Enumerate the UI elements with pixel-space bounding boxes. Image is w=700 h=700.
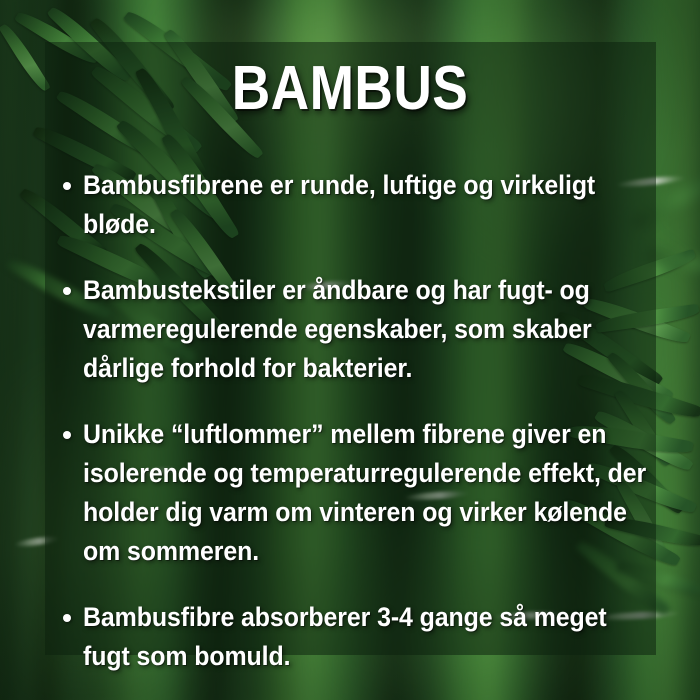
bullet-dot-icon	[63, 182, 71, 190]
bambus-infographic: BAMBUS Bambusfibrene er runde, luftige o…	[0, 0, 700, 700]
list-item-text: Bambusfibre absorberer 3-4 gange så mege…	[83, 598, 659, 676]
list-item: Bambustekstiler er åndbare og har fugt- …	[61, 271, 661, 388]
page-title: BAMBUS	[49, 58, 651, 120]
list-item-text: Unikke “luftlommer” mellem fibrene giver…	[83, 415, 659, 571]
bullet-list: Bambusfibrene er runde, luftige og virke…	[61, 166, 661, 676]
bullet-dot-icon	[63, 614, 71, 622]
list-item-text: Bambustekstiler er åndbare og har fugt- …	[83, 271, 659, 388]
bullet-dot-icon	[63, 287, 71, 295]
content-area: BAMBUS Bambusfibrene er runde, luftige o…	[0, 0, 700, 700]
list-item: Bambusfibrene er runde, luftige og virke…	[61, 166, 661, 244]
list-item: Bambusfibre absorberer 3-4 gange så mege…	[61, 598, 661, 676]
list-item: Unikke “luftlommer” mellem fibrene giver…	[61, 415, 661, 571]
list-item-text: Bambusfibrene er runde, luftige og virke…	[83, 166, 659, 244]
bullet-dot-icon	[63, 431, 71, 439]
